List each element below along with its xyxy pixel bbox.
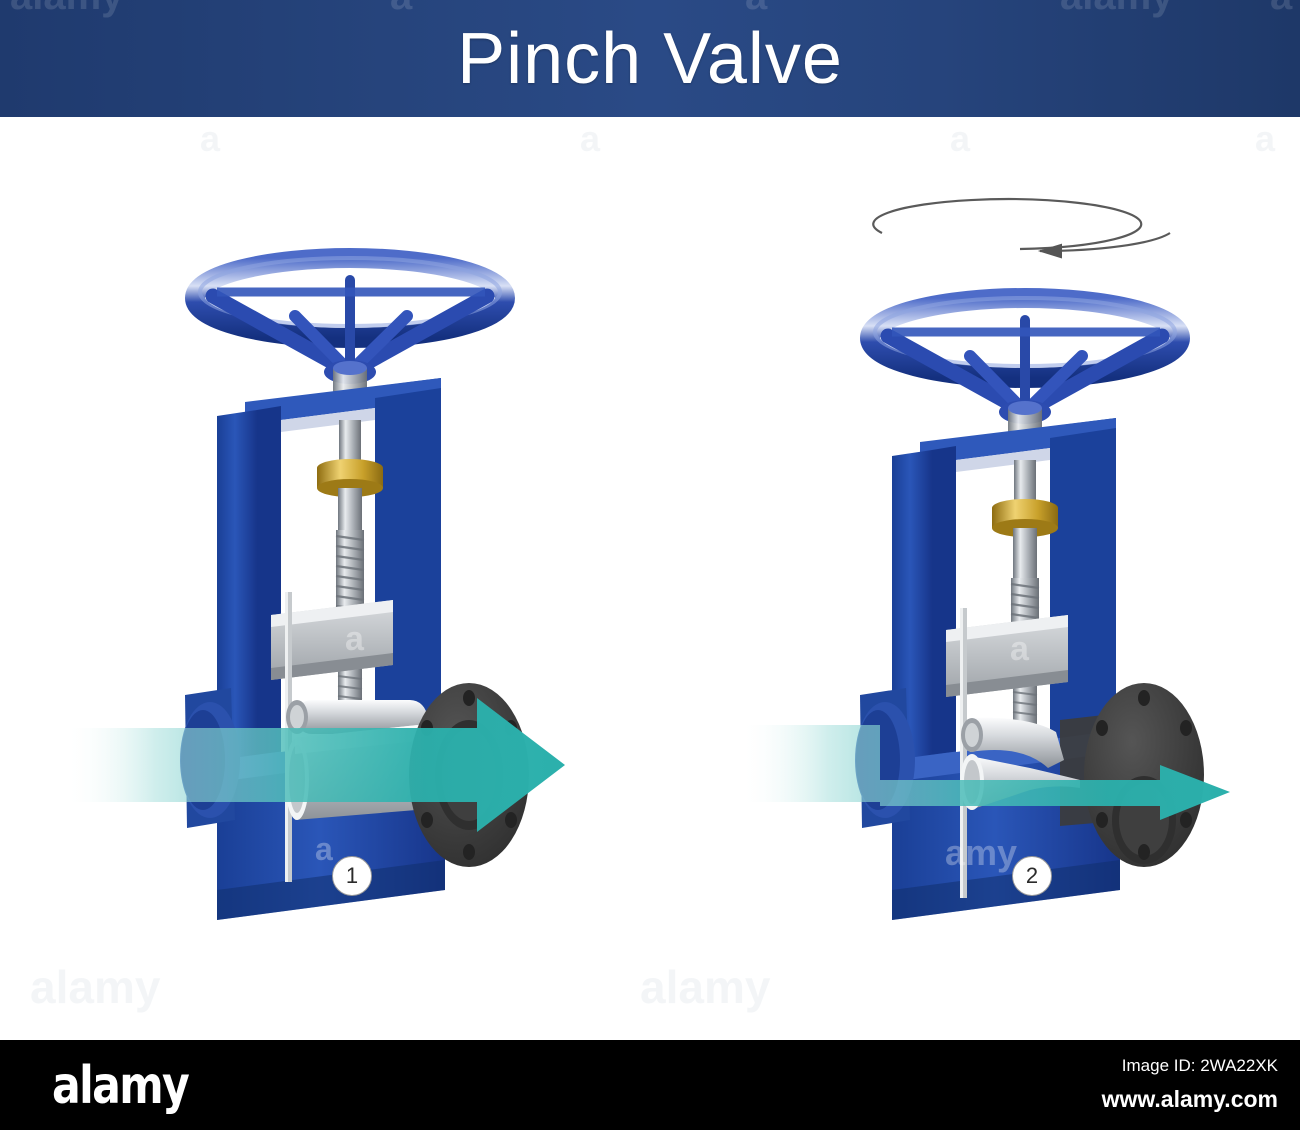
rotation-arrow bbox=[873, 199, 1170, 251]
background-watermark: amy bbox=[945, 832, 1017, 873]
background-watermark: a bbox=[1010, 630, 1030, 668]
footer-bar: alamy Image ID: 2WA22XK www.alamy.com bbox=[0, 1040, 1300, 1130]
background-watermark: a bbox=[345, 620, 365, 658]
image-id-label: Image ID: 2WA22XK bbox=[1122, 1056, 1278, 1076]
page-title: Pinch Valve bbox=[0, 0, 1300, 117]
caption-number-1: 1 bbox=[332, 856, 372, 896]
valve-closed-illustration: a amy bbox=[730, 120, 1290, 920]
outlet-flange bbox=[1084, 683, 1204, 867]
diagram-valve-open: a a bbox=[45, 120, 745, 920]
website-label[interactable]: www.alamy.com bbox=[1102, 1086, 1278, 1113]
alamy-logo: alamy bbox=[52, 1056, 188, 1116]
caption-number-2: 2 bbox=[1012, 856, 1052, 896]
valve-open-illustration: a a bbox=[45, 120, 745, 920]
background-watermark: alamy bbox=[30, 960, 160, 1014]
diagram-valve-closed: a amy bbox=[730, 120, 1290, 920]
title-banner: alamy a a alamy a Pinch Valve bbox=[0, 0, 1300, 117]
background-watermark: alamy bbox=[640, 960, 770, 1014]
background-watermark: a bbox=[315, 831, 333, 867]
